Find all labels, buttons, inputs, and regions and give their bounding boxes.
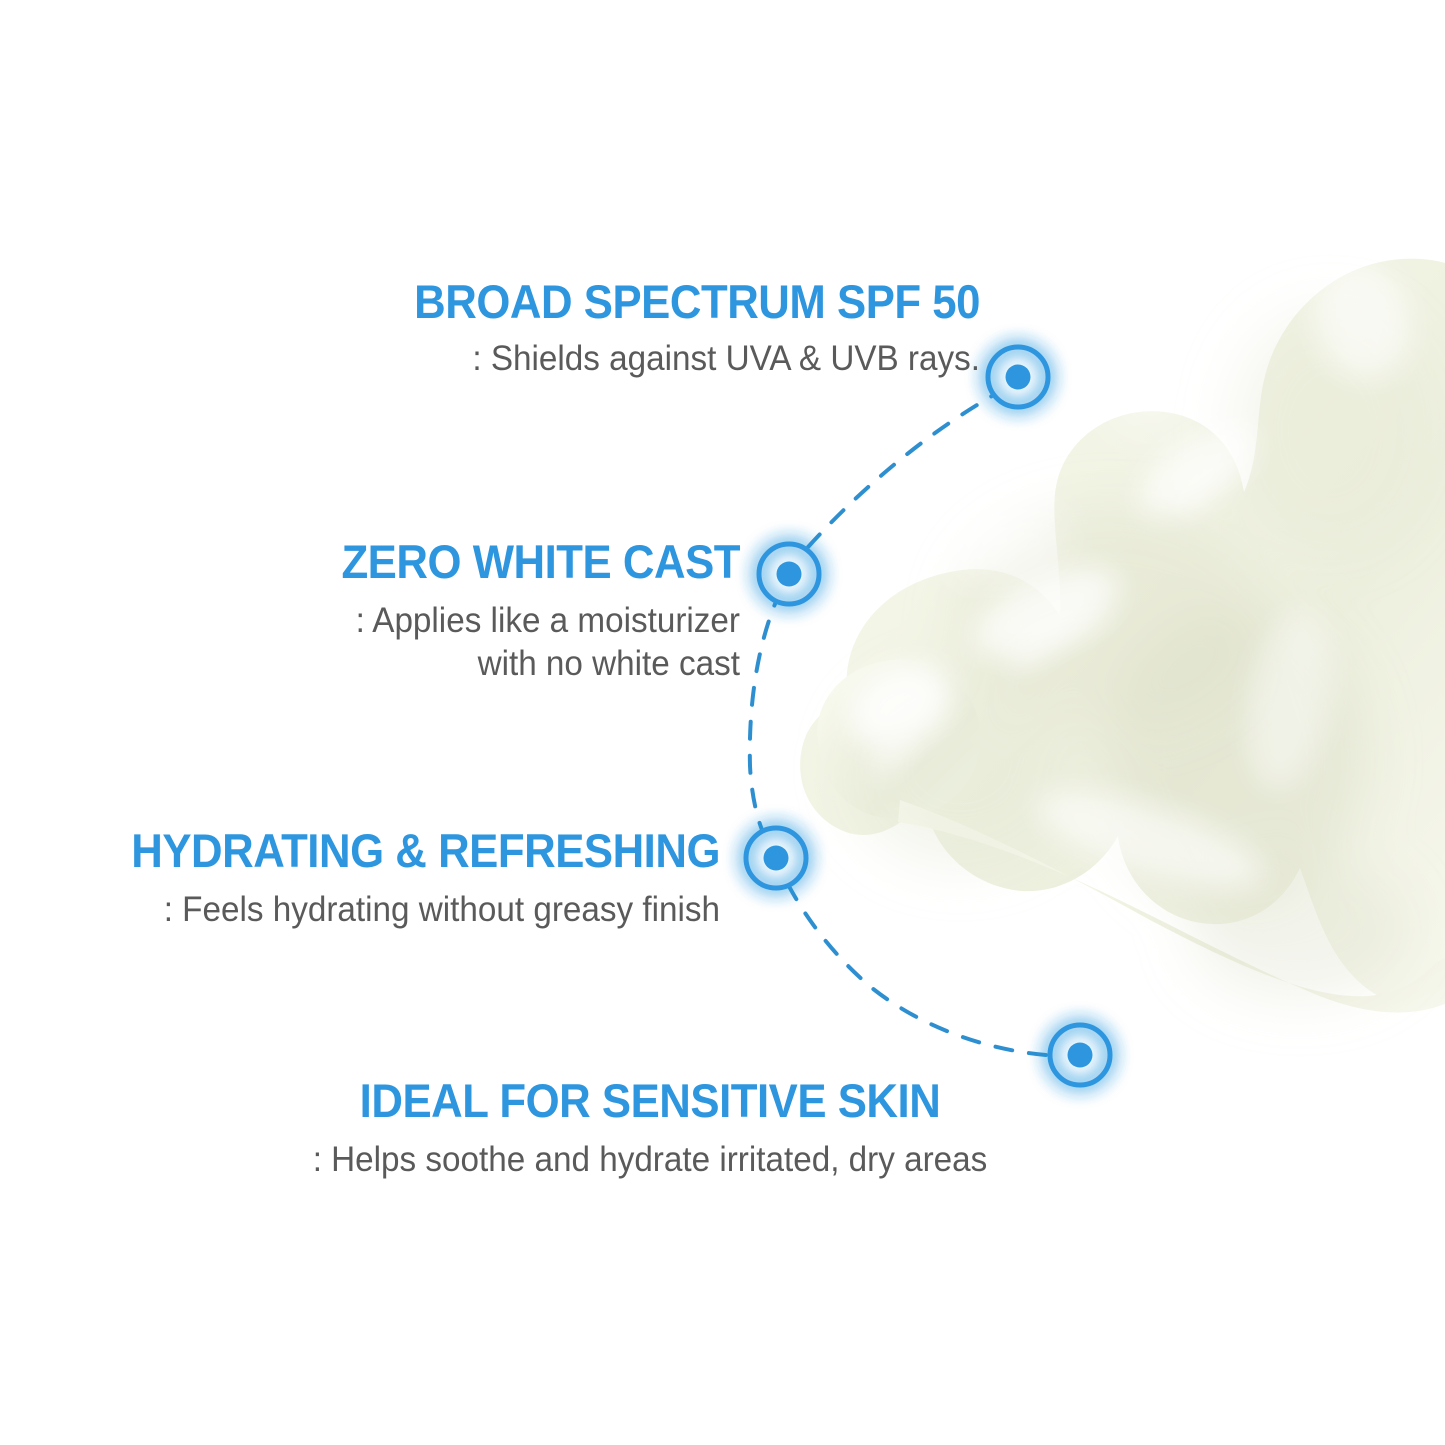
feature-block-sensitive-skin: IDEAL FOR SENSITIVE SKIN : Helps soothe … xyxy=(260,1077,1040,1181)
bullet-dot-3[interactable] xyxy=(745,827,807,889)
feature-title-sensitive-skin: IDEAL FOR SENSITIVE SKIN xyxy=(287,1077,1012,1124)
bullet-dot-1[interactable] xyxy=(987,346,1049,408)
feature-block-hydrating: HYDRATING & REFRESHING : Feels hydrating… xyxy=(60,827,720,931)
infographic-page: BROAD SPECTRUM SPF 50 : Shields against … xyxy=(0,0,1445,1445)
dashed-arc-connector xyxy=(0,0,1445,1445)
bullet-dot-2[interactable] xyxy=(758,543,820,605)
feature-block-white-cast: ZERO WHITE CAST : Applies like a moistur… xyxy=(120,538,740,686)
bullet-dot-4[interactable] xyxy=(1049,1024,1111,1086)
feature-desc-white-cast-line1: : Applies like a moisturizer xyxy=(151,599,740,642)
feature-desc-sensitive-skin: : Helps soothe and hydrate irritated, dr… xyxy=(280,1138,1021,1181)
feature-desc-white-cast-line2: with no white cast xyxy=(151,642,740,685)
feature-title-white-cast: ZERO WHITE CAST xyxy=(163,538,740,585)
feature-title-spf: BROAD SPECTRUM SPF 50 xyxy=(180,278,980,325)
connector-path xyxy=(750,388,1062,1056)
feature-block-spf: BROAD SPECTRUM SPF 50 : Shields against … xyxy=(120,278,980,380)
feature-desc-spf: : Shields against UVA & UVB rays. xyxy=(163,337,980,380)
feature-title-hydrating: HYDRATING & REFRESHING xyxy=(106,827,720,874)
feature-desc-hydrating: : Feels hydrating without greasy finish xyxy=(93,888,720,931)
